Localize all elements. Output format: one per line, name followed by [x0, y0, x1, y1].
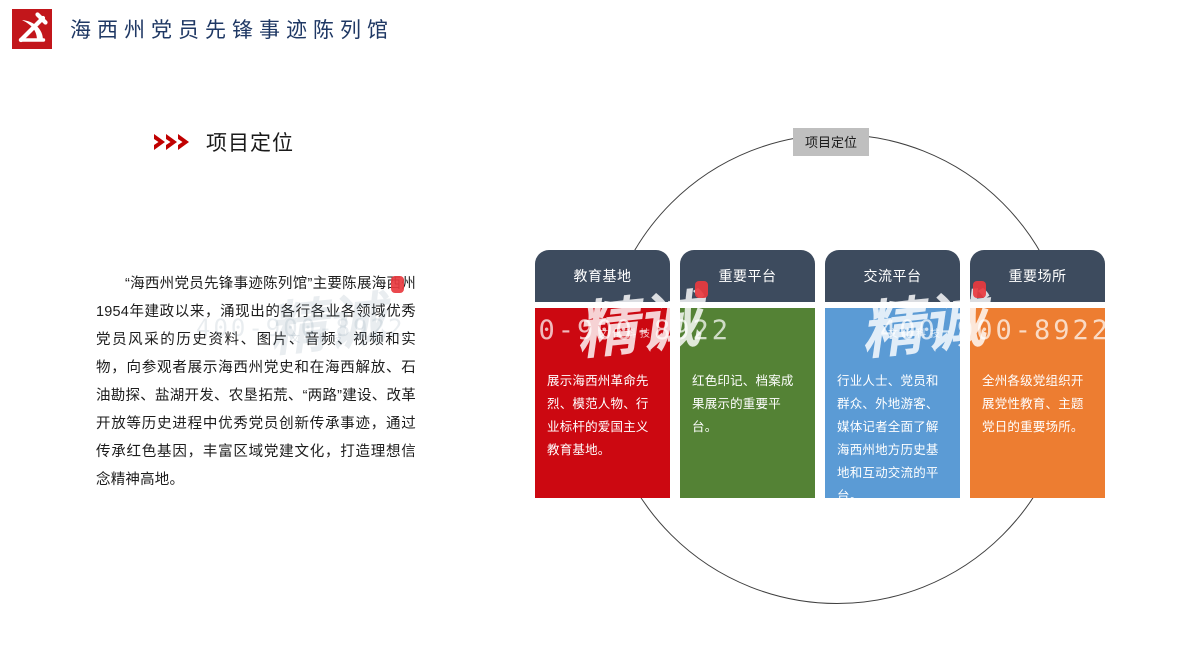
diagram-card[interactable]: 交流平台 行业人士、党员和群众、外地游客、媒体记者全面了解海西州地方历史基地和互…	[825, 250, 960, 498]
hammer-sickle-emblem-icon	[12, 9, 52, 49]
card-body: 展示海西州革命先烈、模范人物、行业标杆的爱国主义教育基地。	[535, 308, 670, 498]
diagram-card[interactable]: 重要场所 全州各级党组织开展党性教育、主题党日的重要场所。	[970, 250, 1105, 498]
card-header: 教育基地	[535, 250, 670, 302]
page-title: 海西州党员先锋事迹陈列馆	[70, 14, 394, 44]
section-title: 项目定位	[206, 127, 294, 157]
card-title: 交流平台	[864, 266, 922, 286]
card-title: 重要场所	[1009, 266, 1067, 286]
intro-paragraph: “海西州党员先锋事迹陈列馆”主要陈展海西州1954年建政以来，涌现出的各行各业各…	[96, 270, 416, 494]
card-header: 重要平台	[680, 250, 815, 302]
card-title: 教育基地	[574, 266, 632, 286]
card-body: 行业人士、党员和群众、外地游客、媒体记者全面了解海西州地方历史基地和互动交流的平…	[825, 308, 960, 498]
card-row: 教育基地 展示海西州革命先烈、模范人物、行业标杆的爱国主义教育基地。 重要平台 …	[535, 250, 1175, 498]
card-body: 全州各级党组织开展党性教育、主题党日的重要场所。	[970, 308, 1105, 498]
diagram-card[interactable]: 教育基地 展示海西州革命先烈、模范人物、行业标杆的爱国主义教育基地。	[535, 250, 670, 498]
section-heading: 项目定位	[152, 126, 294, 158]
card-body: 红色印记、档案成果展示的重要平台。	[680, 308, 815, 498]
diagram-card[interactable]: 重要平台 红色印记、档案成果展示的重要平台。	[680, 250, 815, 498]
card-header: 重要场所	[970, 250, 1105, 302]
card-header: 交流平台	[825, 250, 960, 302]
slide-page: 海西州党员先锋事迹陈列馆 项目定位 “海西州党员先锋事迹陈列馆”主要陈展海西州1…	[0, 0, 1200, 650]
card-title: 重要平台	[719, 266, 777, 286]
diagram-circle-label: 项目定位	[793, 128, 869, 156]
double-chevron-right-icon	[152, 131, 194, 153]
positioning-diagram: 项目定位 教育基地 展示海西州革命先烈、模范人物、行业标杆的爱国主义教育基地。 …	[560, 0, 1200, 650]
